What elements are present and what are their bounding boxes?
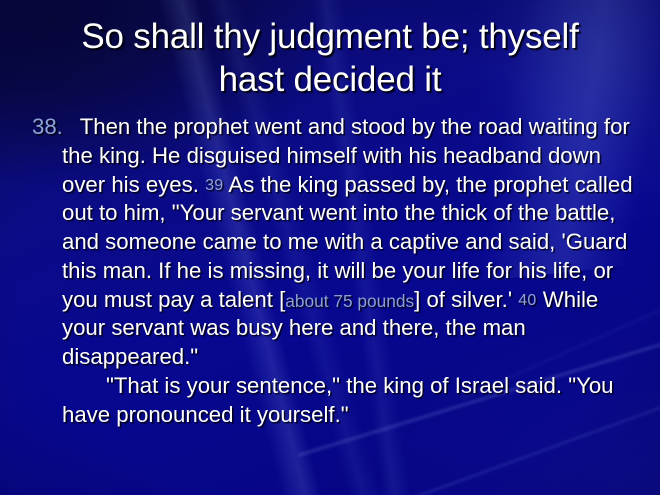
verse-gloss-39: about 75 pounds bbox=[285, 291, 414, 311]
presentation-slide: So shall thy judgment be; thyself hast d… bbox=[0, 0, 660, 495]
slide-title: So shall thy judgment be; thyself hast d… bbox=[22, 16, 638, 101]
verse-number-40: 40 bbox=[518, 292, 536, 309]
verse-number-38: 38. bbox=[32, 114, 63, 139]
verse-text-39b: ] of silver.' bbox=[414, 287, 512, 312]
verse-number-39: 39 bbox=[205, 177, 223, 194]
slide-body: 38.Then the prophet went and stood by th… bbox=[32, 113, 644, 429]
closing-paragraph: "That is your sentence," the king of Isr… bbox=[32, 372, 644, 430]
verse-paragraph-38-40: 38.Then the prophet went and stood by th… bbox=[32, 113, 644, 372]
closing-text: "That is your sentence," the king of Isr… bbox=[62, 373, 614, 427]
